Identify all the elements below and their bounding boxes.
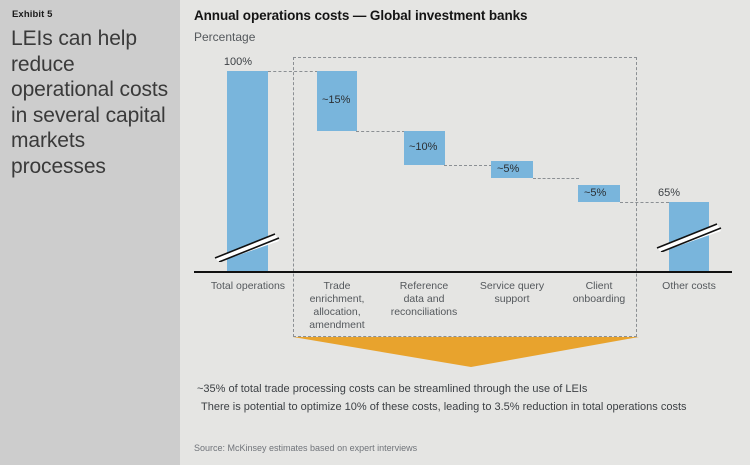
category-line: data and [378,293,470,306]
category-label-reference-data: Reference data and reconciliations [378,280,470,319]
savings-funnel-triangle [293,337,639,367]
note-line-1: ~35% of total trade processing costs can… [197,383,587,395]
category-line: support [469,293,555,306]
category-line: amendment [293,319,381,332]
note-line-2: There is potential to optimize 10% of th… [201,401,687,413]
category-label-other-costs: Other costs [643,280,735,293]
category-label-trade-enrichment: Trade enrichment, allocation, amendment [293,280,381,332]
category-label-client-onboarding: Client onboarding [558,280,640,306]
bar-value-service-query-support: ~5% [497,163,519,175]
category-line: Other costs [643,280,735,293]
connector-line-3 [444,165,492,166]
category-line: reconciliations [378,306,470,319]
exhibit-slide: Exhibit 5 LEIs can help reduce operation… [0,0,750,465]
exhibit-number-label: Exhibit 5 [12,9,53,20]
category-line: Trade [293,280,381,293]
bar-value-trade-enrichment: ~15% [322,94,350,106]
bar-total-operations [227,71,268,271]
bar-value-other-costs: 65% [638,187,700,199]
category-line: onboarding [558,293,640,306]
category-label-service-query-support: Service query support [469,280,555,306]
connector-line-2 [356,131,405,132]
sidebar-panel: Exhibit 5 LEIs can help reduce operation… [0,0,180,465]
category-line: Reference [378,280,470,293]
category-line: allocation, [293,306,381,319]
connector-line-5 [620,202,669,203]
bar-value-total-operations: 100% [207,56,269,68]
category-line: Service query [469,280,555,293]
main-panel: Annual operations costs — Global investm… [180,0,750,465]
category-line: enrichment, [293,293,381,306]
exhibit-headline: LEIs can help reduce operational costs i… [11,26,179,179]
connector-line-4 [533,178,579,179]
bar-value-reference-data: ~10% [409,141,437,153]
category-line: Total operations [197,280,299,293]
category-line: Client [558,280,640,293]
bar-other-costs [669,202,709,271]
connector-line-1 [268,71,318,72]
bar-value-client-onboarding: ~5% [584,187,606,199]
chart-baseline-axis [194,271,732,273]
source-note: Source: McKinsey estimates based on expe… [194,443,417,453]
waterfall-chart: 100% ~15% ~10% ~5% ~5% 65% [180,0,750,465]
category-label-total-operations: Total operations [197,280,299,293]
